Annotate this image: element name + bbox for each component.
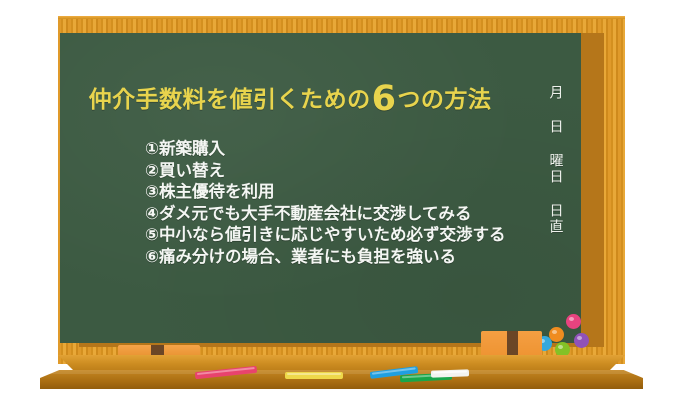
- list-item: ②買い替え: [145, 160, 565, 182]
- list-item: ⑥痛み分けの場合、業者にも負担を強いる: [145, 246, 565, 268]
- date-cell-month: 月: [547, 85, 564, 101]
- chalkboard-scene: 仲介手数料を値引くための6つの方法 ①新築購入 ②買い替え ③株主優待を利用 ④…: [0, 0, 680, 400]
- list-item: ⑤中小なら値引きに応じやすいため必ず交渉する: [145, 224, 565, 246]
- date-cell-weekday: 曜日: [547, 153, 564, 185]
- chalkboard-surface: 仲介手数料を値引くための6つの方法 ①新築購入 ②買い替え ③株主優待を利用 ④…: [60, 33, 581, 343]
- title-prefix: 仲介手数料を値引くための: [89, 87, 371, 113]
- date-cell-day: 日: [547, 119, 564, 135]
- chalk-tray-top: [58, 355, 625, 372]
- title-suffix: つの方法: [397, 87, 491, 113]
- magnet-pink: [566, 314, 581, 329]
- list-item: ①新築購入: [145, 138, 565, 160]
- method-list: ①新築購入 ②買い替え ③株主優待を利用 ④ダメ元でも大手不動産会社に交渉してみ…: [145, 138, 565, 267]
- title-number: 6: [372, 79, 397, 119]
- date-column: 月 日 曜日 日直: [541, 85, 569, 235]
- chalk-white: [431, 369, 469, 377]
- list-item: ③株主優待を利用: [145, 181, 565, 203]
- chalk-yellow: [285, 372, 343, 379]
- magnet-purple: [574, 333, 589, 348]
- frame-top-highlight: [58, 16, 625, 19]
- list-item: ④ダメ元でも大手不動産会社に交渉してみる: [145, 203, 565, 225]
- board-title: 仲介手数料を値引くための6つの方法: [60, 80, 520, 114]
- date-cell-duty: 日直: [547, 203, 564, 235]
